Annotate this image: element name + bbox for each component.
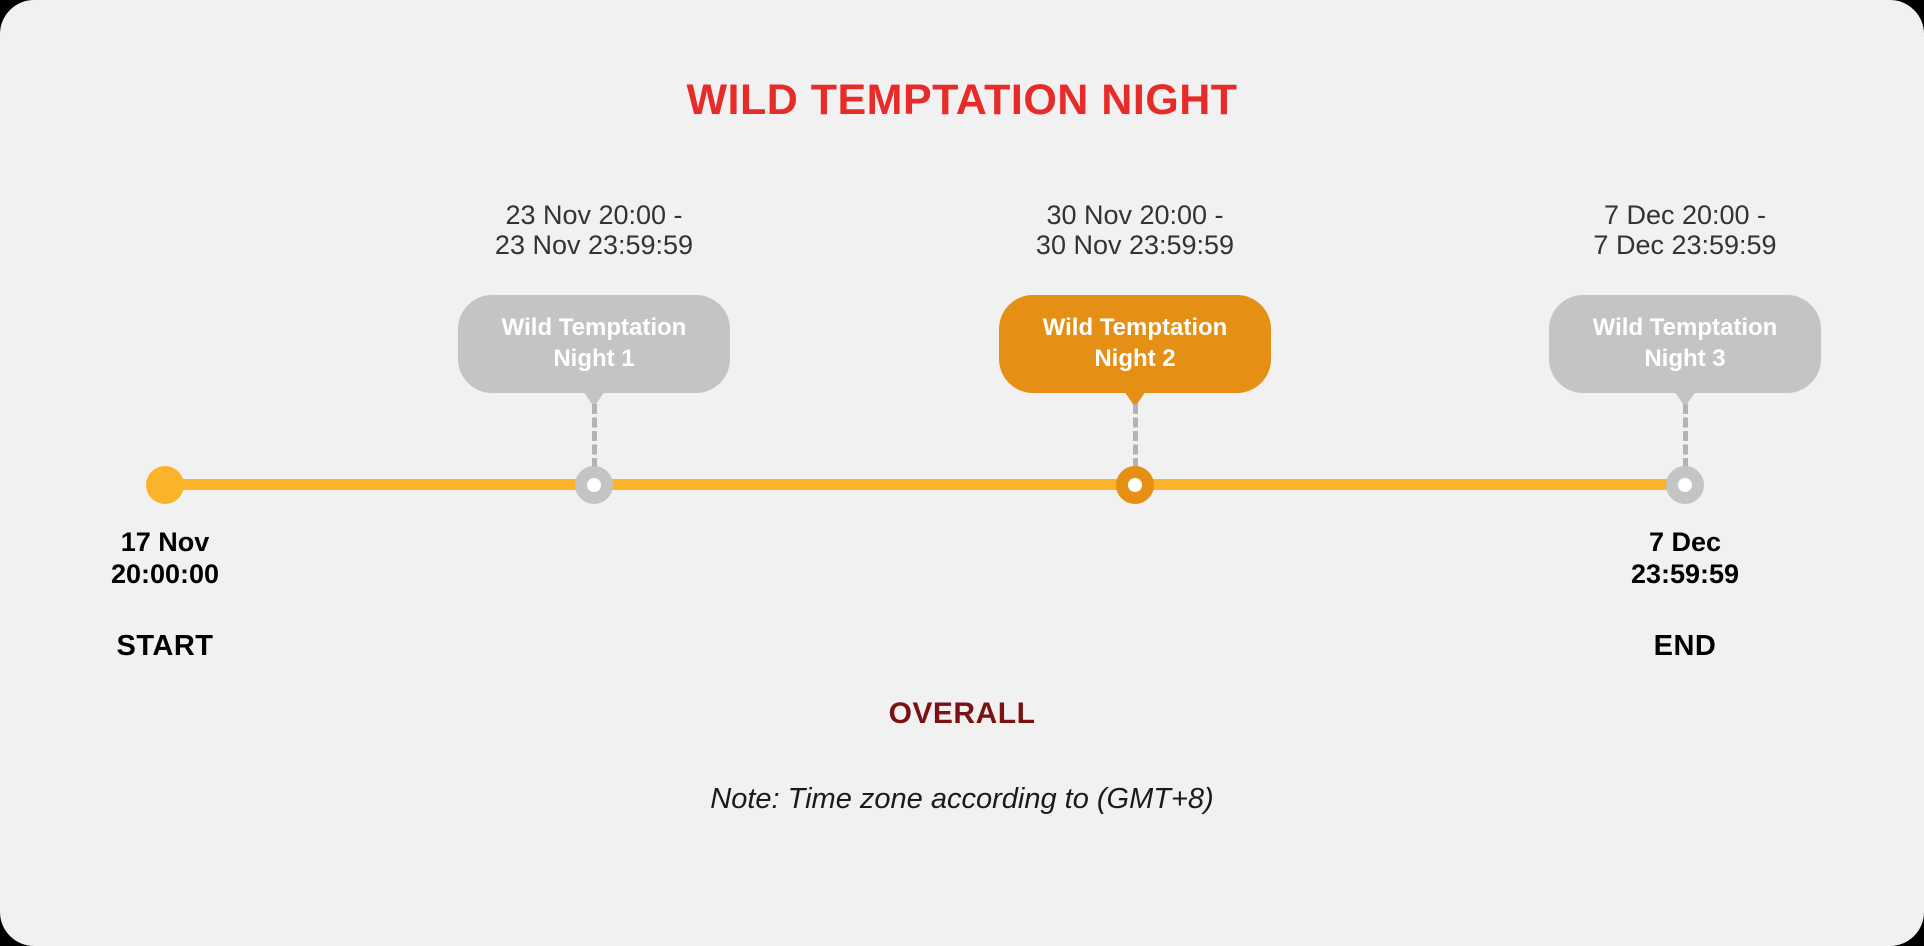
milestone-3-bubble[interactable]: Wild Temptation Night 3: [1549, 295, 1821, 393]
milestone-1-date-range: 23 Nov 20:00 - 23 Nov 23:59:59: [424, 200, 764, 260]
milestone-1-bubble[interactable]: Wild Temptation Night 1: [458, 295, 730, 393]
milestone-2-bubble-label: Wild Temptation Night 2: [1043, 314, 1228, 372]
timeline-track: [165, 479, 1685, 490]
timeline-start-tag: START: [5, 630, 325, 663]
milestone-3-date-range: 7 Dec 20:00 - 7 Dec 23:59:59: [1515, 200, 1855, 260]
timeline-start-date: 17 Nov 20:00:00: [5, 527, 325, 590]
overall-label: OVERALL: [0, 697, 1924, 731]
timeline-card: WILD TEMPTATION NIGHT 17 Nov 20:00:00 ST…: [0, 0, 1924, 946]
milestone-3-bubble-label: Wild Temptation Night 3: [1593, 314, 1778, 372]
milestone-2-date-range: 30 Nov 20:00 - 30 Nov 23:59:59: [965, 200, 1305, 260]
milestone-1-bubble-label: Wild Temptation Night 1: [502, 314, 687, 372]
timezone-note: Note: Time zone according to (GMT+8): [0, 783, 1924, 816]
timeline-end-tag: END: [1525, 630, 1845, 663]
milestone-1-connector: [592, 404, 597, 468]
milestone-3-connector: [1683, 404, 1688, 468]
timeline-start-marker[interactable]: [146, 466, 184, 504]
milestone-2-bubble[interactable]: Wild Temptation Night 2: [999, 295, 1271, 393]
milestone-3-marker[interactable]: [1666, 466, 1704, 504]
milestone-1-marker[interactable]: [575, 466, 613, 504]
milestone-2-connector: [1133, 404, 1138, 468]
marker-hole: [1128, 478, 1142, 492]
marker-hole: [1678, 478, 1692, 492]
marker-hole: [587, 478, 601, 492]
milestone-2-marker[interactable]: [1116, 466, 1154, 504]
timeline-end-date: 7 Dec 23:59:59: [1525, 527, 1845, 590]
